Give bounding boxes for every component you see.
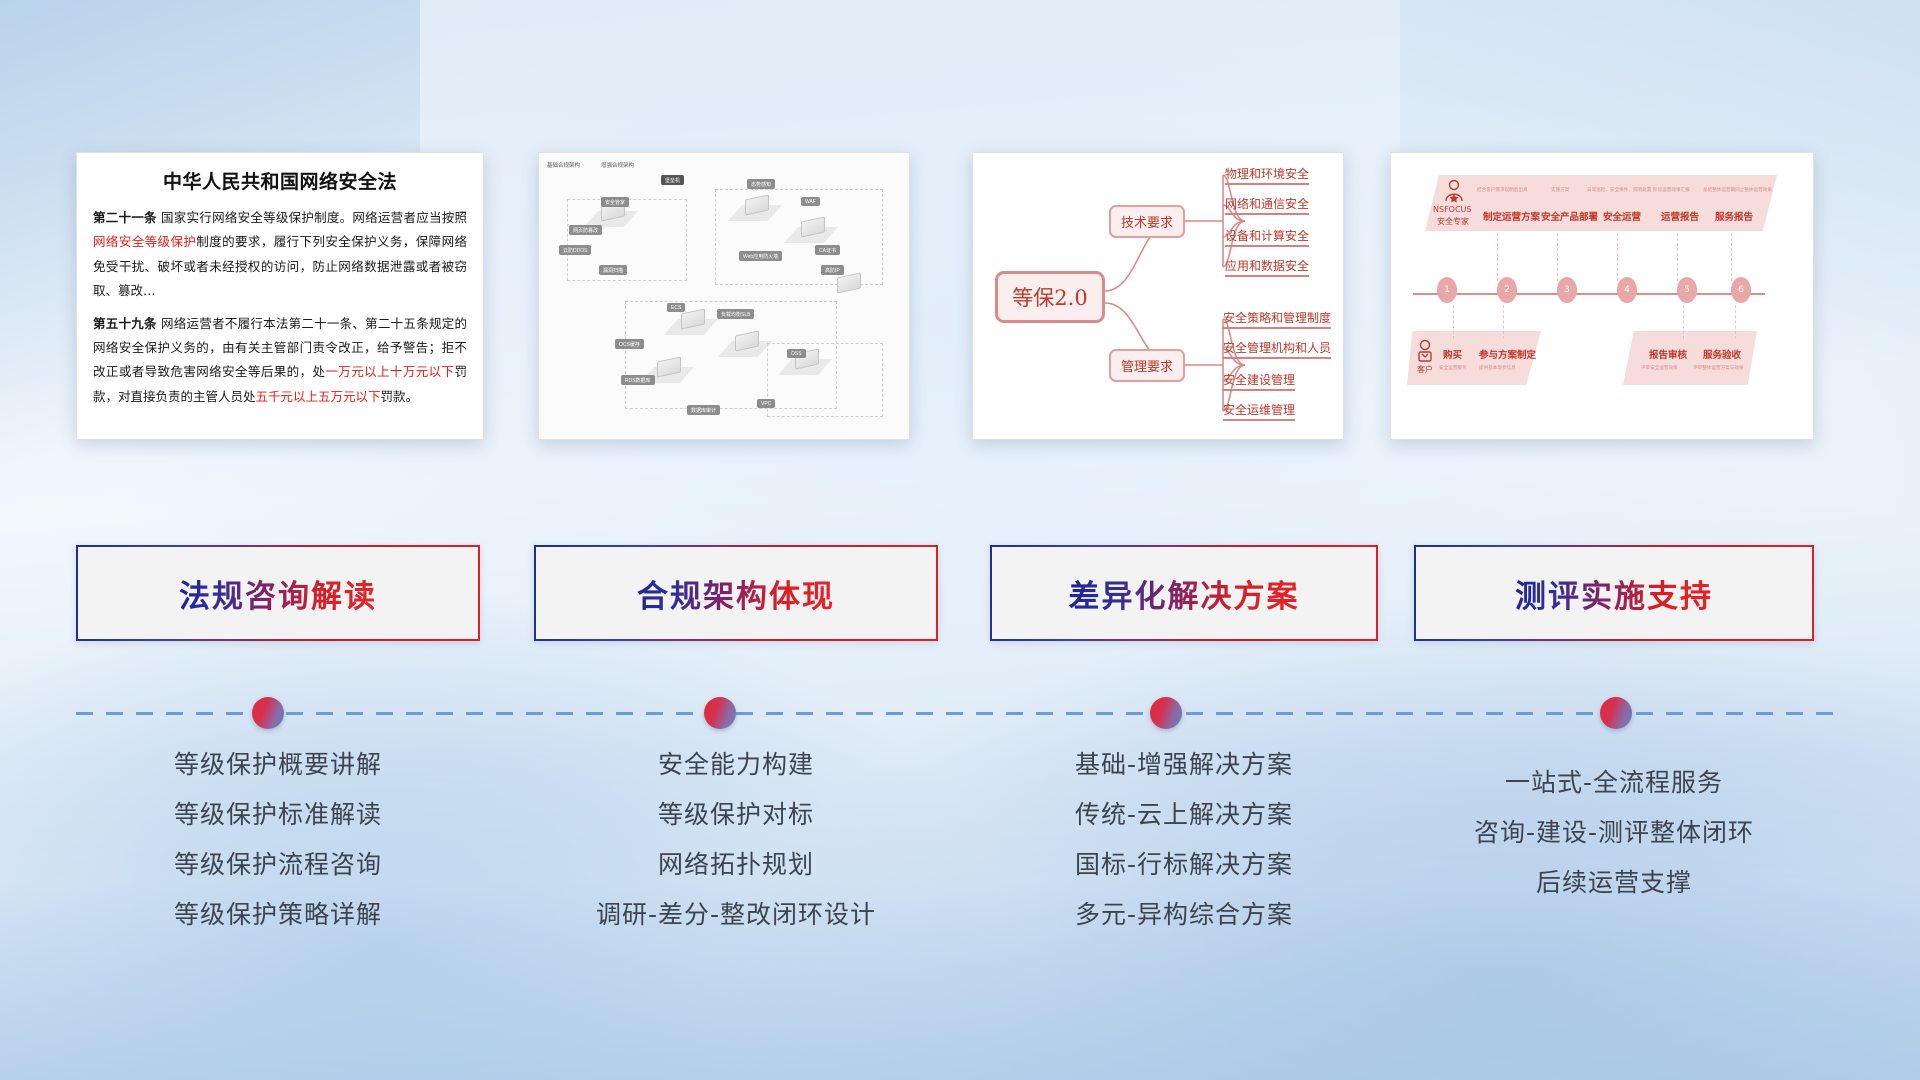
flow-top-step-1-name[interactable]: 制定运营方案 — [1483, 209, 1540, 223]
timeline-dot-4[interactable] — [1600, 697, 1632, 729]
list-item[interactable]: 等级保护标准解读 — [76, 790, 480, 840]
mindmap-leaf-network-comm[interactable]: 网络和通信安全 — [1225, 195, 1309, 215]
law-article-59-seg-3: 五千元以上五万元以下 — [256, 389, 381, 404]
arch-pill-security-butler: 安全管家 — [601, 197, 629, 207]
flow-bottom-left-step-1-sub: 安全运营服务 — [1439, 365, 1467, 371]
flow-axis-line — [1413, 293, 1765, 295]
flow-dropline-9 — [1735, 305, 1736, 339]
law-body: 中华人民共和国网络安全法 第二十一条 国家实行网络安全等级保护制度。网络运营者应… — [77, 153, 483, 415]
column-list-1: 等级保护概要讲解 等级保护标准解读 等级保护流程咨询 等级保护策略详解 — [76, 740, 480, 940]
flow-bottom-right-step-1-name[interactable]: 报告审核 — [1649, 347, 1687, 361]
arch-pill-situation: 态势感知 — [747, 179, 775, 189]
column-title-label-3: 差异化解决方案 — [1069, 571, 1300, 616]
column-list-2: 安全能力构建 等级保护对标 网络拓扑规划 调研-差分-整改闭环设计 — [534, 740, 938, 940]
law-heading: 中华人民共和国网络安全法 — [93, 167, 467, 194]
flow-step-number-4[interactable]: 4 — [1617, 277, 1637, 303]
law-article-59: 第五十九条 网络运营者不履行本法第二十一条、第二十五条规定的网络安全保护义务的，… — [93, 312, 467, 410]
service-flow-diagram: NSFOCUS 安全专家 结合客户需求说明后出具 制定运营方案 实施方案 安全产… — [1391, 153, 1813, 439]
column-title-label-2: 合规架构体现 — [637, 571, 835, 616]
arch-pill-vuln-scan: 漏洞扫描 — [599, 265, 627, 275]
flow-dropline-4 — [1677, 233, 1678, 281]
illustration-card-row: 中华人民共和国网络安全法 第二十一条 国家实行网络安全等级保护制度。网络运营者应… — [0, 152, 1920, 442]
arch-pill-high-def-ip: 高防IP — [821, 265, 844, 275]
mindmap-leaf-policy-system[interactable]: 安全策略和管理制度 — [1223, 309, 1331, 329]
law-excerpt-card[interactable]: 中华人民共和国网络安全法 第二十一条 国家实行网络安全等级保护制度。网络运营者应… — [76, 152, 484, 440]
arch-pill-rds: RDS数据库 — [621, 375, 655, 385]
column-title-box-4[interactable]: 测评实施支持 — [1414, 545, 1814, 641]
flow-dropline-2 — [1557, 233, 1558, 281]
flow-dropline-8 — [1683, 305, 1684, 339]
list-item[interactable]: 国标-行标解决方案 — [990, 840, 1378, 890]
expert-avatar-icon — [1443, 179, 1465, 203]
law-article-21-label: 第二十一条 — [93, 210, 157, 225]
timeline — [0, 697, 1920, 729]
cloud-architecture-card[interactable]: 基础合规架构 增强合规架构 堡垒机 安全管家 网页防篡改 态势感知 — [538, 152, 910, 440]
arch-pill-bastion: 堡垒机 — [661, 175, 684, 185]
arch-pill-vpc: VPC — [757, 399, 775, 408]
mindmap-branch-technical[interactable]: 技术要求 — [1109, 205, 1185, 238]
flow-step-number-3[interactable]: 3 — [1557, 277, 1577, 303]
flow-dropline-7 — [1503, 305, 1504, 339]
column-title-box-3[interactable]: 差异化解决方案 — [990, 545, 1378, 641]
flow-top-step-5-sub: 总结整体运营期间之整体运营效果 — [1703, 187, 1772, 193]
column-list-row: 等级保护概要讲解 等级保护标准解读 等级保护流程咨询 等级保护策略详解 安全能力… — [0, 740, 1920, 1020]
flow-bottom-left-step-2-sub: 提供基本现状信息 — [1479, 365, 1516, 371]
arch-tab-basic: 基础合规架构 — [547, 161, 580, 169]
arch-pill-waf: WAF — [801, 197, 820, 206]
arch-pill-anti-ddos: 云防DDOS — [559, 245, 591, 255]
mindmap-card[interactable]: 等保2.0 技术要求 管理要求 物理和环境安全 网络和通信安全 设备和计算安全 … — [972, 152, 1344, 440]
flow-customer-role-label: 客户 — [1417, 364, 1433, 375]
flow-expert-role-label: 安全专家 — [1437, 216, 1469, 227]
mindmap-leaf-ops-mgmt[interactable]: 安全运维管理 — [1223, 401, 1295, 421]
arch-pill-anti-tamper: 网页防篡改 — [569, 225, 602, 235]
arch-zone-right — [767, 343, 883, 417]
flow-bottom-right-step-2-sub: 评审整体运营方案与效果 — [1693, 365, 1744, 371]
service-flow-card[interactable]: NSFOCUS 安全专家 结合客户需求说明后出具 制定运营方案 实施方案 安全产… — [1390, 152, 1814, 440]
mindmap-diagram: 等保2.0 技术要求 管理要求 物理和环境安全 网络和通信安全 设备和计算安全 … — [973, 153, 1343, 439]
column-list-3: 基础-增强解决方案 传统-云上解决方案 国标-行标解决方案 多元-异构综合方案 — [990, 740, 1378, 940]
flow-top-step-5-name[interactable]: 服务报告 — [1715, 209, 1753, 223]
list-item[interactable]: 等级保护策略详解 — [76, 890, 480, 940]
list-item[interactable]: 一站式-全流程服务 — [1414, 758, 1814, 808]
flow-top-step-2-sub: 实施方案 — [1551, 187, 1569, 193]
flow-dropline-5 — [1731, 233, 1732, 281]
flow-top-step-3-name[interactable]: 安全运营 — [1603, 209, 1641, 223]
law-article-21-seg-0: 国家实行网络安全等级保护制度。网络运营者应当按照 — [161, 210, 467, 225]
arch-pill-web-firewall: Web应用防火墙 — [739, 251, 782, 261]
flow-bottom-right-step-2-name[interactable]: 服务验收 — [1703, 347, 1741, 361]
column-title-box-1[interactable]: 法规咨询解读 — [76, 545, 480, 641]
mindmap-leaf-device-compute[interactable]: 设备和计算安全 — [1225, 227, 1309, 247]
arch-pill-ocs: OCS缓存 — [615, 339, 644, 349]
list-item[interactable]: 等级保护对标 — [534, 790, 938, 840]
flow-dropline-1 — [1497, 233, 1498, 281]
list-item[interactable]: 传统-云上解决方案 — [990, 790, 1378, 840]
timeline-dot-3[interactable] — [1150, 697, 1182, 729]
law-article-21-seg-1: 网络安全等级保护 — [93, 234, 196, 249]
flow-top-step-3-sub: 日常巡检、安全事件、漏洞处置 — [1587, 187, 1651, 193]
timeline-dashed-line — [76, 712, 1838, 715]
law-article-21: 第二十一条 国家实行网络安全等级保护制度。网络运营者应当按照网络安全等级保护制度… — [93, 206, 467, 304]
flow-bottom-left-step-1-name[interactable]: 购买 — [1443, 347, 1462, 361]
list-item[interactable]: 安全能力构建 — [534, 740, 938, 790]
list-item[interactable]: 等级保护概要讲解 — [76, 740, 480, 790]
flow-top-step-1-sub: 结合客户需求说明后出具 — [1477, 187, 1528, 193]
timeline-dot-1[interactable] — [252, 697, 284, 729]
flow-top-step-2-name[interactable]: 安全产品部署 — [1541, 209, 1598, 223]
flow-step-number-2[interactable]: 2 — [1497, 277, 1517, 303]
flow-brand-label: NSFOCUS — [1433, 205, 1471, 214]
arch-tab-enhanced: 增强合规架构 — [601, 161, 634, 169]
mindmap-leaf-org-personnel[interactable]: 安全管理机构和人员 — [1223, 339, 1331, 359]
law-article-59-seg-1: 一万元以上十万元以下 — [325, 364, 454, 379]
flow-step-number-6[interactable]: 6 — [1731, 277, 1751, 303]
flow-top-step-4-sub: 阶段运营效果汇报 — [1653, 187, 1690, 193]
arch-pill-slb: 负载均衡SLB — [717, 309, 754, 319]
column-title-box-2[interactable]: 合规架构体现 — [534, 545, 938, 641]
flow-step-number-1[interactable]: 1 — [1437, 277, 1457, 303]
arch-pill-ca-cert: CA证书 — [815, 245, 840, 255]
mindmap-root-node[interactable]: 等保2.0 — [995, 271, 1105, 323]
law-article-59-label: 第五十九条 — [93, 316, 157, 331]
flow-dropline-6 — [1453, 305, 1454, 339]
list-item[interactable]: 网络拓扑规划 — [534, 840, 938, 890]
timeline-dot-2[interactable] — [704, 697, 736, 729]
list-item[interactable]: 等级保护流程咨询 — [76, 840, 480, 890]
law-article-59-seg-4: 罚款。 — [381, 389, 419, 404]
mindmap-branch-management[interactable]: 管理要求 — [1109, 349, 1185, 382]
arch-pill-ecs: ECS — [667, 303, 685, 312]
mindmap-leaf-physical-env[interactable]: 物理和环境安全 — [1225, 165, 1309, 185]
column-title-row: 法规咨询解读 合规架构体现 差异化解决方案 测评实施支持 — [0, 545, 1920, 653]
list-item[interactable]: 基础-增强解决方案 — [990, 740, 1378, 790]
flow-bottom-right-step-1-sub: 评审安全运营效果 — [1641, 365, 1678, 371]
column-title-label-4: 测评实施支持 — [1515, 571, 1713, 616]
flow-top-step-4-name[interactable]: 运营报告 — [1661, 209, 1699, 223]
customer-avatar-icon — [1415, 339, 1435, 363]
list-item[interactable]: 后续运营支撑 — [1414, 858, 1814, 908]
mindmap-leaf-app-data[interactable]: 应用和数据安全 — [1225, 257, 1309, 277]
list-item[interactable]: 多元-异构综合方案 — [990, 890, 1378, 940]
mindmap-leaf-build-mgmt[interactable]: 安全建设管理 — [1223, 371, 1295, 391]
flow-bottom-left-step-2-name[interactable]: 参与方案制定 — [1479, 347, 1536, 361]
list-item[interactable]: 调研-差分-整改闭环设计 — [534, 890, 938, 940]
column-list-4: 一站式-全流程服务 咨询-建设-测评整体闭环 后续运营支撑 — [1414, 758, 1814, 908]
list-item[interactable]: 咨询-建设-测评整体闭环 — [1414, 808, 1814, 858]
architecture-diagram: 基础合规架构 增强合规架构 堡垒机 安全管家 网页防篡改 态势感知 — [539, 153, 909, 439]
arch-pill-db-audit: 数据库审计 — [687, 405, 720, 415]
arch-pill-oss: OSS — [787, 349, 806, 358]
flow-dropline-3 — [1617, 233, 1618, 281]
flow-step-number-5[interactable]: 5 — [1677, 277, 1697, 303]
column-title-label-1: 法规咨询解读 — [179, 571, 377, 616]
arch-node-8 — [837, 272, 861, 293]
